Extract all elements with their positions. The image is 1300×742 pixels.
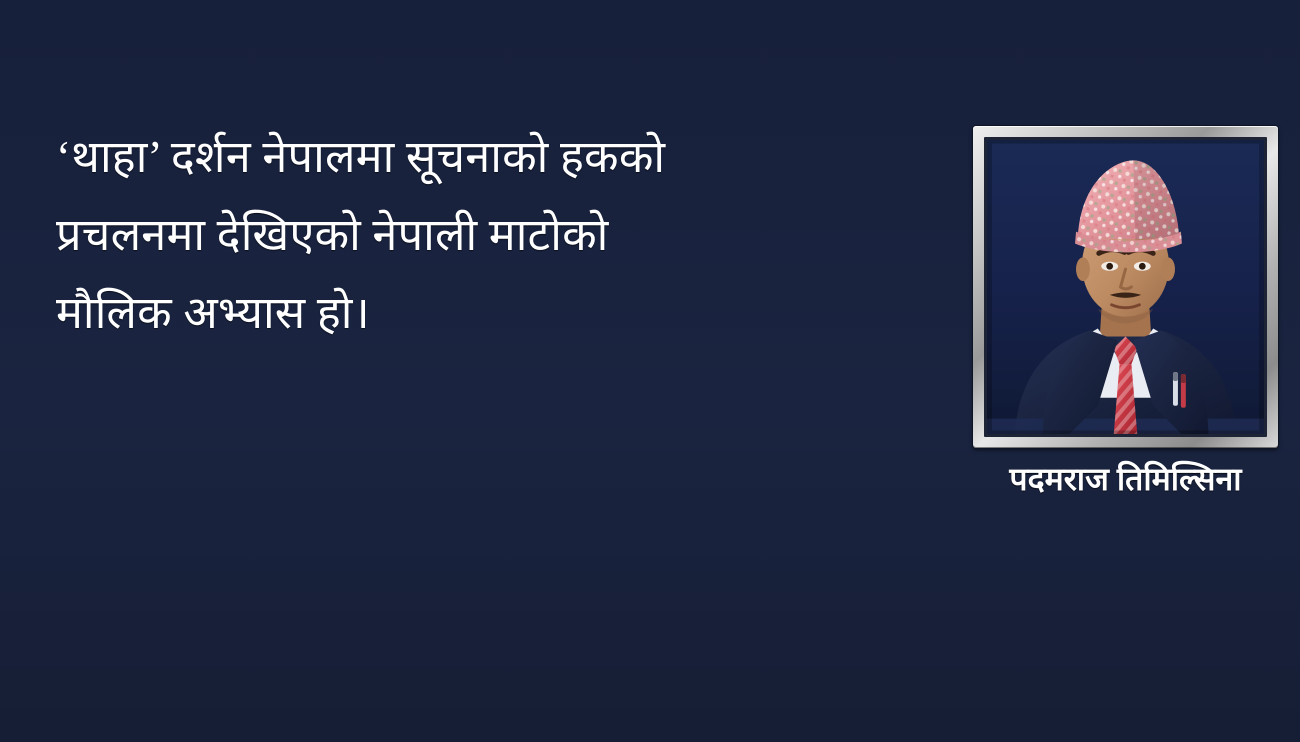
photo-frame bbox=[973, 126, 1278, 448]
quote-line-2: प्रचलनमा देखिएको नेपाली माटोको bbox=[56, 196, 916, 274]
portrait-caption: पदमराज तिमिल्सिना bbox=[973, 460, 1278, 498]
quote-line-3: मौलिक अभ्यास हो। bbox=[56, 274, 916, 352]
quote-line-1: ‘थाहा’ दर्शन नेपालमा सूचनाको हकको bbox=[56, 118, 916, 196]
slide-canvas: ‘थाहा’ दर्शन नेपालमा सूचनाको हकको प्रचलन… bbox=[0, 0, 1300, 742]
portrait-block: पदमराज तिमिल्सिना bbox=[973, 126, 1278, 498]
photo-frame-inner-bevel bbox=[984, 137, 1267, 437]
portrait-photo bbox=[987, 140, 1264, 434]
quote-block: ‘थाहा’ दर्शन नेपालमा सूचनाको हकको प्रचलन… bbox=[56, 118, 916, 352]
